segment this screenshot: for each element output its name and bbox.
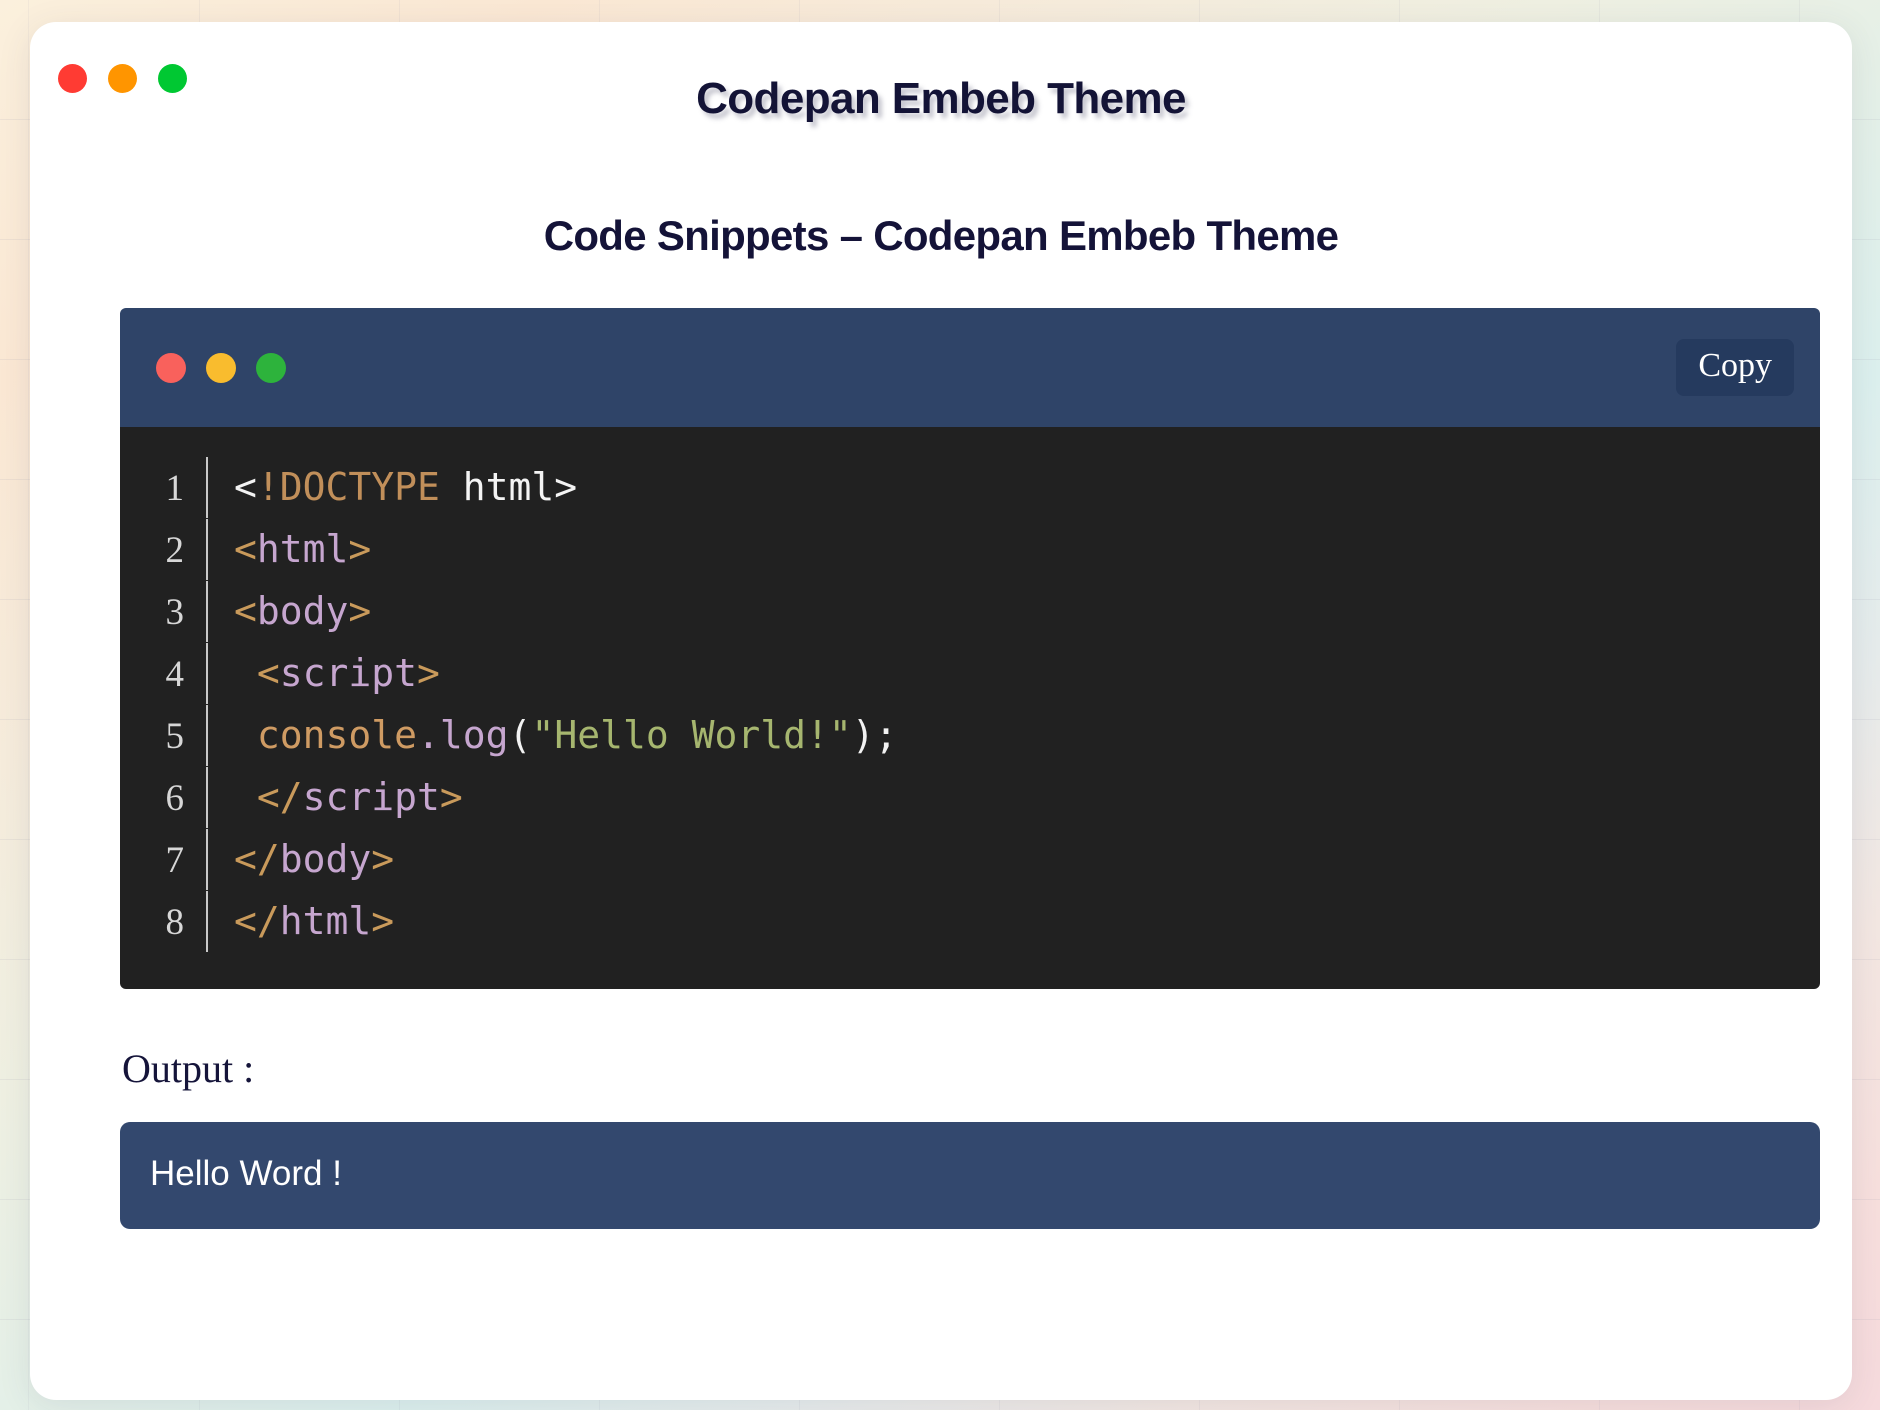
line-content: </script>: [206, 767, 1820, 828]
line-content: console.log("Hello World!");: [206, 705, 1820, 766]
code-line: 3<body>: [120, 581, 1820, 643]
line-number: 7: [120, 830, 206, 891]
code-token: .: [417, 713, 440, 757]
code-token: </: [234, 837, 280, 881]
code-token: body: [280, 837, 372, 881]
code-token: >: [440, 775, 463, 819]
code-token: html>: [440, 465, 577, 509]
code-token: !DOCTYPE: [257, 465, 440, 509]
line-content: <!DOCTYPE html>: [206, 457, 1820, 518]
code-body[interactable]: 1<!DOCTYPE html>2<html>3<body>4 <script>…: [120, 427, 1820, 989]
code-card-header: Copy: [120, 308, 1820, 427]
code-line: 8</html>: [120, 891, 1820, 953]
line-number: 5: [120, 706, 206, 767]
code-token: >: [371, 837, 394, 881]
code-token: );: [852, 713, 898, 757]
code-traffic-lights: [156, 353, 286, 383]
section-subtitle: Code Snippets – Codepan Embeb Theme: [120, 212, 1762, 260]
code-token: log: [440, 713, 509, 757]
code-token: script: [280, 651, 417, 695]
line-number: 6: [120, 768, 206, 829]
code-token: <: [234, 589, 257, 633]
line-number: 1: [120, 458, 206, 519]
code-token: >: [348, 589, 371, 633]
line-content: <body>: [206, 581, 1820, 642]
code-token: console: [234, 713, 417, 757]
code-minimize-icon[interactable]: [206, 353, 236, 383]
line-number: 8: [120, 892, 206, 953]
code-maximize-icon[interactable]: [256, 353, 286, 383]
code-token: >: [417, 651, 440, 695]
code-token: <: [234, 465, 257, 509]
code-line: 7</body>: [120, 829, 1820, 891]
code-token: <: [234, 651, 280, 695]
line-content: <script>: [206, 643, 1820, 704]
code-token: html: [257, 527, 349, 571]
code-line: 6 </script>: [120, 767, 1820, 829]
code-close-icon[interactable]: [156, 353, 186, 383]
line-number: 3: [120, 582, 206, 643]
code-line: 2<html>: [120, 519, 1820, 581]
code-token: script: [303, 775, 440, 819]
line-content: <html>: [206, 519, 1820, 580]
code-token: </: [234, 775, 303, 819]
code-token: "Hello World!": [531, 713, 851, 757]
output-result-box: Hello Word !: [120, 1122, 1820, 1229]
code-token: (: [509, 713, 532, 757]
page-title: Codepan Embeb Theme: [30, 74, 1852, 124]
copy-button[interactable]: Copy: [1676, 339, 1794, 396]
line-number: 4: [120, 644, 206, 705]
output-label: Output :: [120, 1045, 1762, 1092]
code-token: body: [257, 589, 349, 633]
main-content: Code Snippets – Codepan Embeb Theme Copy…: [30, 172, 1852, 1229]
code-token: </: [234, 899, 280, 943]
code-line: 1<!DOCTYPE html>: [120, 457, 1820, 519]
code-snippet-card: Copy 1<!DOCTYPE html>2<html>3<body>4 <sc…: [120, 308, 1820, 989]
line-content: </body>: [206, 829, 1820, 890]
code-line: 5 console.log("Hello World!");: [120, 705, 1820, 767]
code-token: >: [348, 527, 371, 571]
code-token: >: [371, 899, 394, 943]
code-token: html: [280, 899, 372, 943]
line-content: </html>: [206, 891, 1820, 952]
line-number: 2: [120, 520, 206, 581]
code-line: 4 <script>: [120, 643, 1820, 705]
code-token: <: [234, 527, 257, 571]
app-window: Codepan Embeb Theme Code Snippets – Code…: [30, 22, 1852, 1400]
